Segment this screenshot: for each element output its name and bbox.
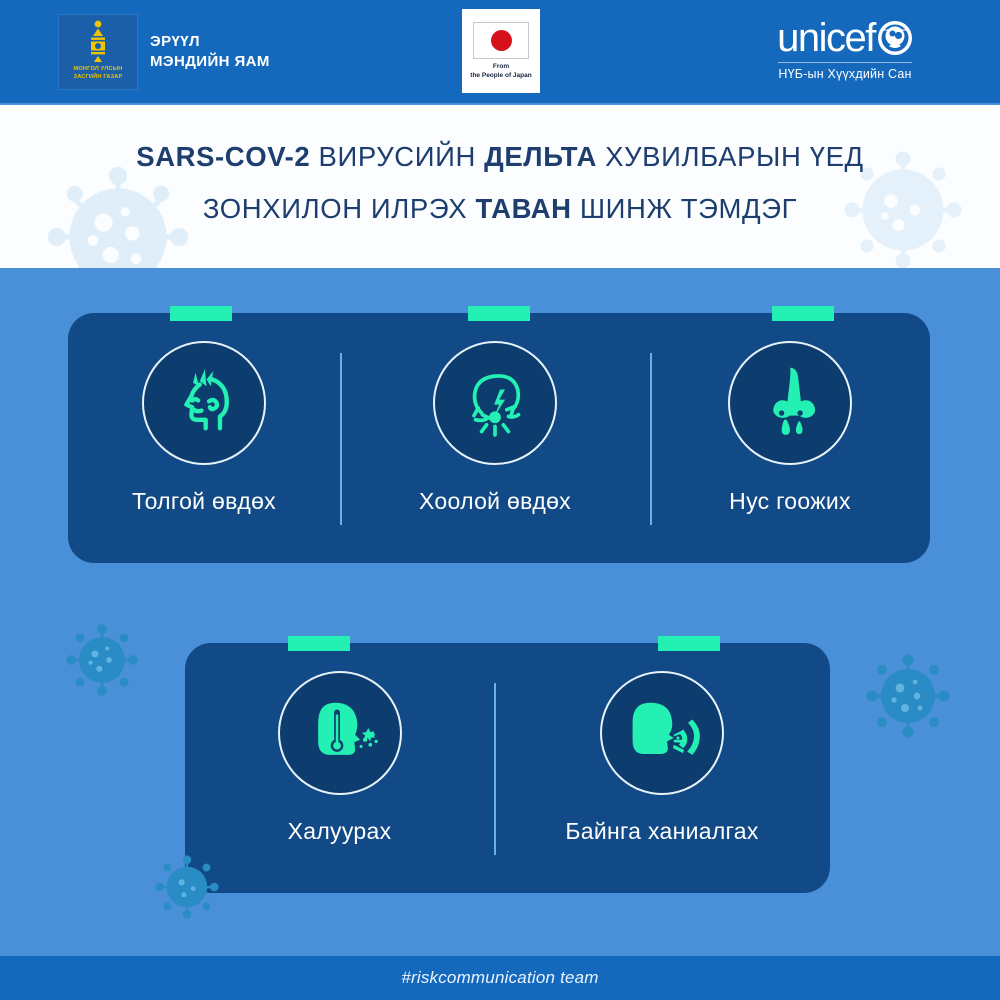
unicef-logo: unicef НҮБ-ын Хүүхдийн Сан [730, 18, 960, 83]
title-tavan: ТАВАН [475, 193, 571, 224]
title-huvilbaryn-ued: ХУВИЛБАРЫН ҮЕД [597, 141, 864, 172]
title-band: SARS-COV-2 ВИРУСИЙН ДЕЛЬТА ХУВИЛБАРЫН ҮЕ… [0, 105, 1000, 268]
card-tab-accent [170, 306, 232, 321]
symptom-icon-container [433, 341, 557, 465]
virus-decoration-icon [858, 646, 958, 746]
head-headache-icon [162, 361, 246, 445]
title-virusiin: ВИРУСИЙН [310, 141, 484, 172]
symptom-item-sore-throat[interactable]: Хоолой өвдөх [340, 313, 650, 563]
soyombo-emblem: МОНГОЛ УЛСЫН ЗАСГИЙН ГАЗАР [58, 14, 138, 90]
ministry-name: ЭРҮҮЛ МЭНДИЙН ЯАМ [150, 32, 270, 72]
head-coughing-icon [620, 691, 704, 775]
card-tab-accent [658, 636, 720, 651]
symptom-label: Нус гоожих [729, 488, 851, 515]
symptom-item-cough[interactable]: Байнга ханиалгах [494, 643, 830, 893]
card-tab-accent [772, 306, 834, 321]
gov-emblem-line1: МОНГОЛ УЛСЫН [74, 65, 123, 73]
symptom-item-runny-nose[interactable]: Нус гоожих [650, 313, 930, 563]
title-delta: ДЕЛЬТА [484, 141, 597, 172]
virus-decoration-icon [148, 848, 226, 926]
footer-bar: #riskcommunication team [0, 956, 1000, 1000]
head-thermometer-fever-icon [298, 691, 382, 775]
symptom-label: Халуурах [288, 818, 392, 845]
page-title: SARS-COV-2 ВИРУСИЙН ДЕЛЬТА ХУВИЛБАРЫН ҮЕ… [0, 105, 1000, 234]
runny-nose-icon [748, 361, 832, 445]
symptom-icon-container [728, 341, 852, 465]
symptom-icon-container [600, 671, 724, 795]
header-bar: МОНГОЛ УЛСЫН ЗАСГИЙН ГАЗАР ЭРҮҮЛ МЭНДИЙН… [0, 0, 1000, 103]
symptom-label: Байнга ханиалгах [565, 818, 758, 845]
japan-flag-icon [473, 22, 529, 59]
symptoms-area: Толгой өвдөх [0, 268, 1000, 956]
mongolia-government-logo: МОНГОЛ УЛСЫН ЗАСГИЙН ГАЗАР ЭРҮҮЛ МЭНДИЙН… [58, 14, 270, 90]
japan-flag-disc [491, 30, 512, 51]
ministry-name-line1: ЭРҮҮЛ [150, 32, 270, 52]
unicef-wordmark: unicef [777, 18, 875, 58]
title-line-1: SARS-COV-2 ВИРУСИЙН ДЕЛЬТА ХУВИЛБАРЫН ҮЕ… [0, 131, 1000, 183]
infographic-poster: МОНГОЛ УЛСЫН ЗАСГИЙН ГАЗАР ЭРҮҮЛ МЭНДИЙН… [0, 0, 1000, 1000]
japan-caption-line1: From [470, 63, 531, 72]
card-tab-accent [288, 636, 350, 651]
title-line-2: ЗОНХИЛОН ИЛРЭХ ТАВАН ШИНЖ ТЭМДЭГ [0, 183, 1000, 235]
symptom-item-headache[interactable]: Толгой өвдөх [68, 313, 340, 563]
ministry-name-line2: МЭНДИЙН ЯАМ [150, 52, 270, 72]
footer-hashtag: #riskcommunication team [401, 968, 598, 988]
gov-emblem-text: МОНГОЛ УЛСЫН ЗАСГИЙН ГАЗАР [74, 65, 123, 82]
gov-emblem-line2: ЗАСГИЙН ГАЗАР [74, 73, 123, 81]
japan-aid-logo: From the People of Japan [462, 9, 540, 93]
title-zonhilon-ilreh: ЗОНХИЛОН ИЛРЭХ [203, 193, 476, 224]
title-sars-cov-2: SARS-COV-2 [136, 141, 310, 172]
symptom-icon-container [142, 341, 266, 465]
unicef-emblem-icon [877, 20, 913, 56]
head-sore-throat-icon [453, 361, 537, 445]
symptom-label: Хоолой өвдөх [419, 488, 571, 515]
card-tab-accent [468, 306, 530, 321]
virus-decoration-icon [58, 616, 146, 704]
soyombo-icon [85, 19, 111, 63]
japan-caption-line2: the People of Japan [470, 72, 531, 81]
unicef-subtitle: НҮБ-ын Хүүхдийн Сан [778, 62, 911, 81]
symptom-icon-container [278, 671, 402, 795]
symptom-label: Толгой өвдөх [132, 488, 276, 515]
japan-aid-caption: From the People of Japan [470, 63, 531, 81]
title-shinj-temdeg: ШИНЖ ТЭМДЭГ [572, 193, 797, 224]
symptom-item-fever[interactable]: Халуурах [185, 643, 494, 893]
